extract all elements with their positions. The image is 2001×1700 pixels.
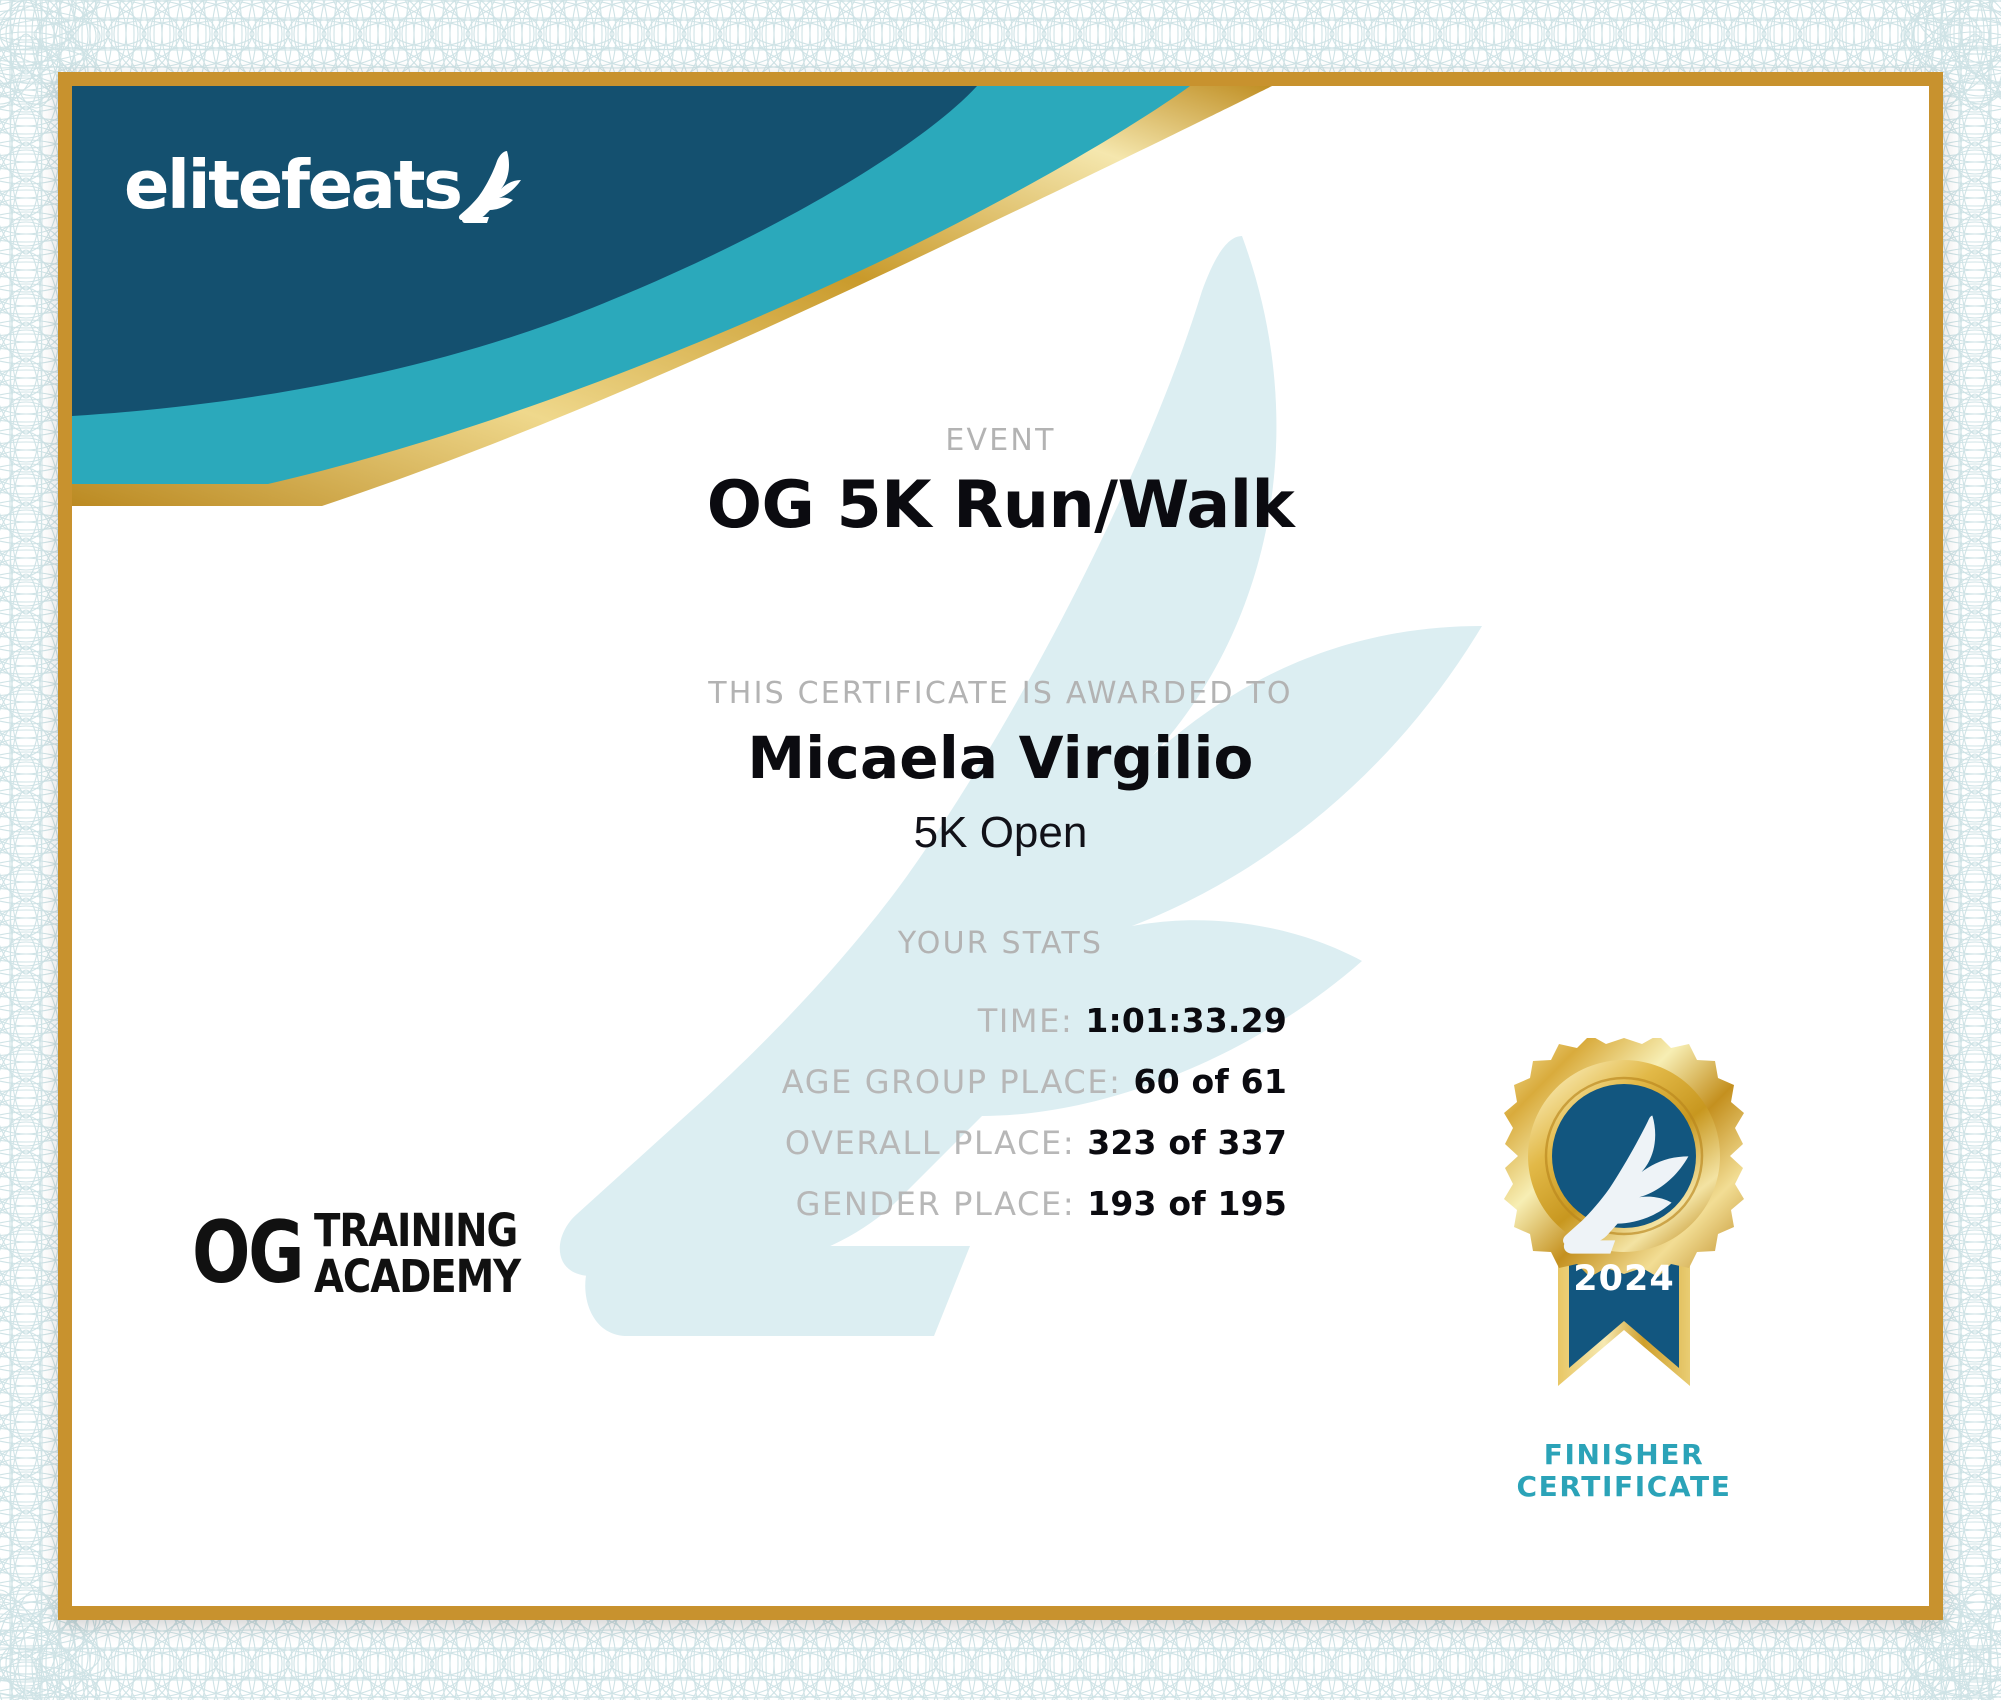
stat-value-age-group-place: 60 of 61	[1134, 1062, 1287, 1101]
og-wordmark: TRAINING ACADEMY	[314, 1208, 520, 1300]
medal-caption: FINISHER CERTIFICATE	[1474, 1439, 1774, 1503]
medal-year: 2024	[1573, 1259, 1674, 1299]
stat-value-gender-place: 193 of 195	[1087, 1184, 1287, 1223]
og-word-academy: ACADEMY	[314, 1250, 520, 1303]
stat-value-overall-place: 323 of 337	[1087, 1123, 1287, 1162]
og-training-academy-logo: OG TRAINING ACADEMY	[192, 1208, 553, 1300]
event-title: OG 5K Run/Walk	[72, 468, 1929, 543]
stat-row-overall-place: OVERALL PLACE: 323 of 337	[72, 1123, 1287, 1162]
stat-label-overall-place: OVERALL PLACE:	[785, 1124, 1075, 1162]
awarded-to-label: THIS CERTIFICATE IS AWARDED TO	[72, 676, 1929, 711]
recipient-division: 5K Open	[72, 808, 1929, 858]
stat-label-age-group-place: AGE GROUP PLACE:	[782, 1063, 1122, 1101]
stat-label-time: TIME:	[978, 1002, 1074, 1040]
og-monogram: OG	[192, 1217, 302, 1291]
elitefeats-logo: elitefeats	[124, 143, 527, 227]
elitefeats-wordmark: elitefeats	[124, 152, 461, 219]
stat-label-gender-place: GENDER PLACE:	[796, 1185, 1076, 1223]
your-stats-label: YOUR STATS	[72, 926, 1929, 961]
stat-value-time: 1:01:33.29	[1085, 1001, 1287, 1040]
medal-caption-line2: CERTIFICATE	[1517, 1470, 1732, 1503]
medal-caption-line1: FINISHER	[1544, 1438, 1704, 1471]
event-label: EVENT	[72, 423, 1929, 458]
stat-row-time: TIME: 1:01:33.29	[72, 1001, 1287, 1040]
finisher-medal: 2024 FINISHER CERTIFICATE	[1474, 1038, 1774, 1503]
certificate-card: elitefeats EVENT OG 5K Run/Walk THIS CER…	[58, 72, 1943, 1620]
recipient-name: Micaela Virgilio	[72, 724, 1929, 792]
medal-graphic: 2024	[1474, 1038, 1774, 1428]
certificate-page: elitefeats EVENT OG 5K Run/Walk THIS CER…	[0, 0, 2001, 1700]
winged-foot-icon	[455, 149, 527, 227]
stat-row-age-group-place: AGE GROUP PLACE: 60 of 61	[72, 1062, 1287, 1101]
